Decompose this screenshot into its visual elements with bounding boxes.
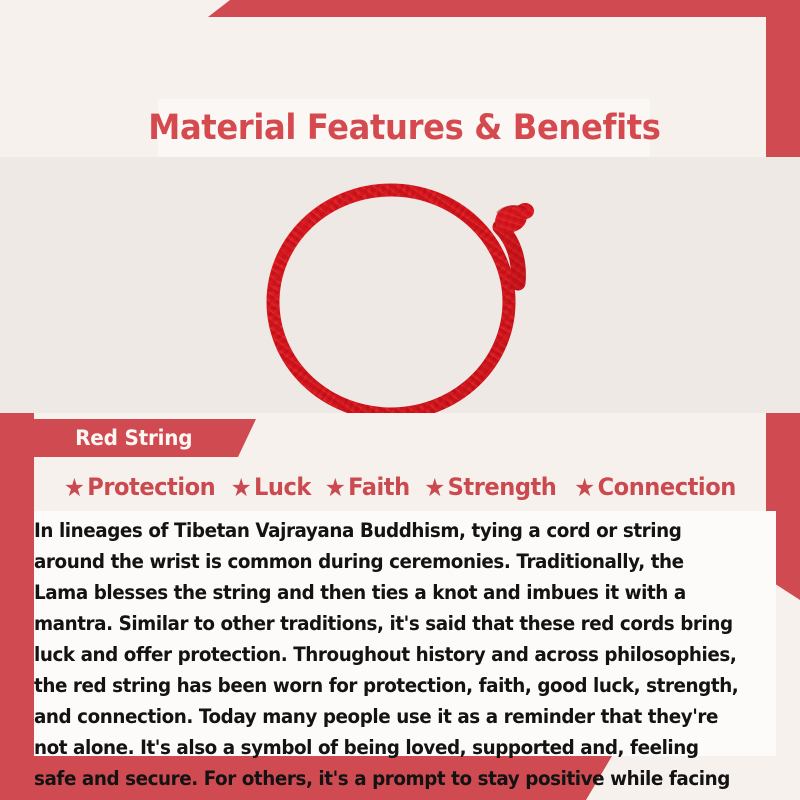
star-icon: ★ — [64, 475, 85, 500]
description-panel: In lineages of Tibetan Vajrayana Buddhis… — [34, 511, 776, 756]
feature-label: Faith — [348, 473, 410, 501]
feature-list: ★ Protection ★ Luck ★ Faith ★ Strength ★… — [34, 463, 766, 511]
feature-label: Connection — [597, 473, 735, 501]
feature-item-faith: ★ Faith — [321, 473, 413, 501]
material-tag: Red String — [0, 419, 256, 457]
decorative-band-top — [208, 0, 800, 17]
feature-label: Strength — [448, 473, 557, 501]
star-icon: ★ — [424, 475, 445, 500]
product-feature-card: Material Features & Benefits — [0, 0, 800, 800]
feature-item-strength: ★ Strength — [421, 473, 561, 501]
star-icon: ★ — [231, 475, 252, 500]
star-icon: ★ — [574, 475, 595, 500]
star-icon: ★ — [325, 475, 346, 500]
feature-label: Luck — [254, 473, 311, 501]
title-panel: Material Features & Benefits — [158, 99, 650, 157]
feature-label: Protection — [87, 473, 215, 501]
feature-item-protection: ★ Protection — [60, 473, 219, 501]
feature-item-connection: ★ Connection — [570, 473, 739, 501]
page-title: Material Features & Benefits — [148, 108, 660, 148]
feature-item-luck: ★ Luck — [227, 473, 315, 501]
product-image-stage — [0, 157, 800, 413]
bracelet-image — [228, 157, 576, 413]
material-tag-label: Red String — [75, 426, 192, 450]
description-text: In lineages of Tibetan Vajrayana Buddhis… — [34, 511, 748, 800]
